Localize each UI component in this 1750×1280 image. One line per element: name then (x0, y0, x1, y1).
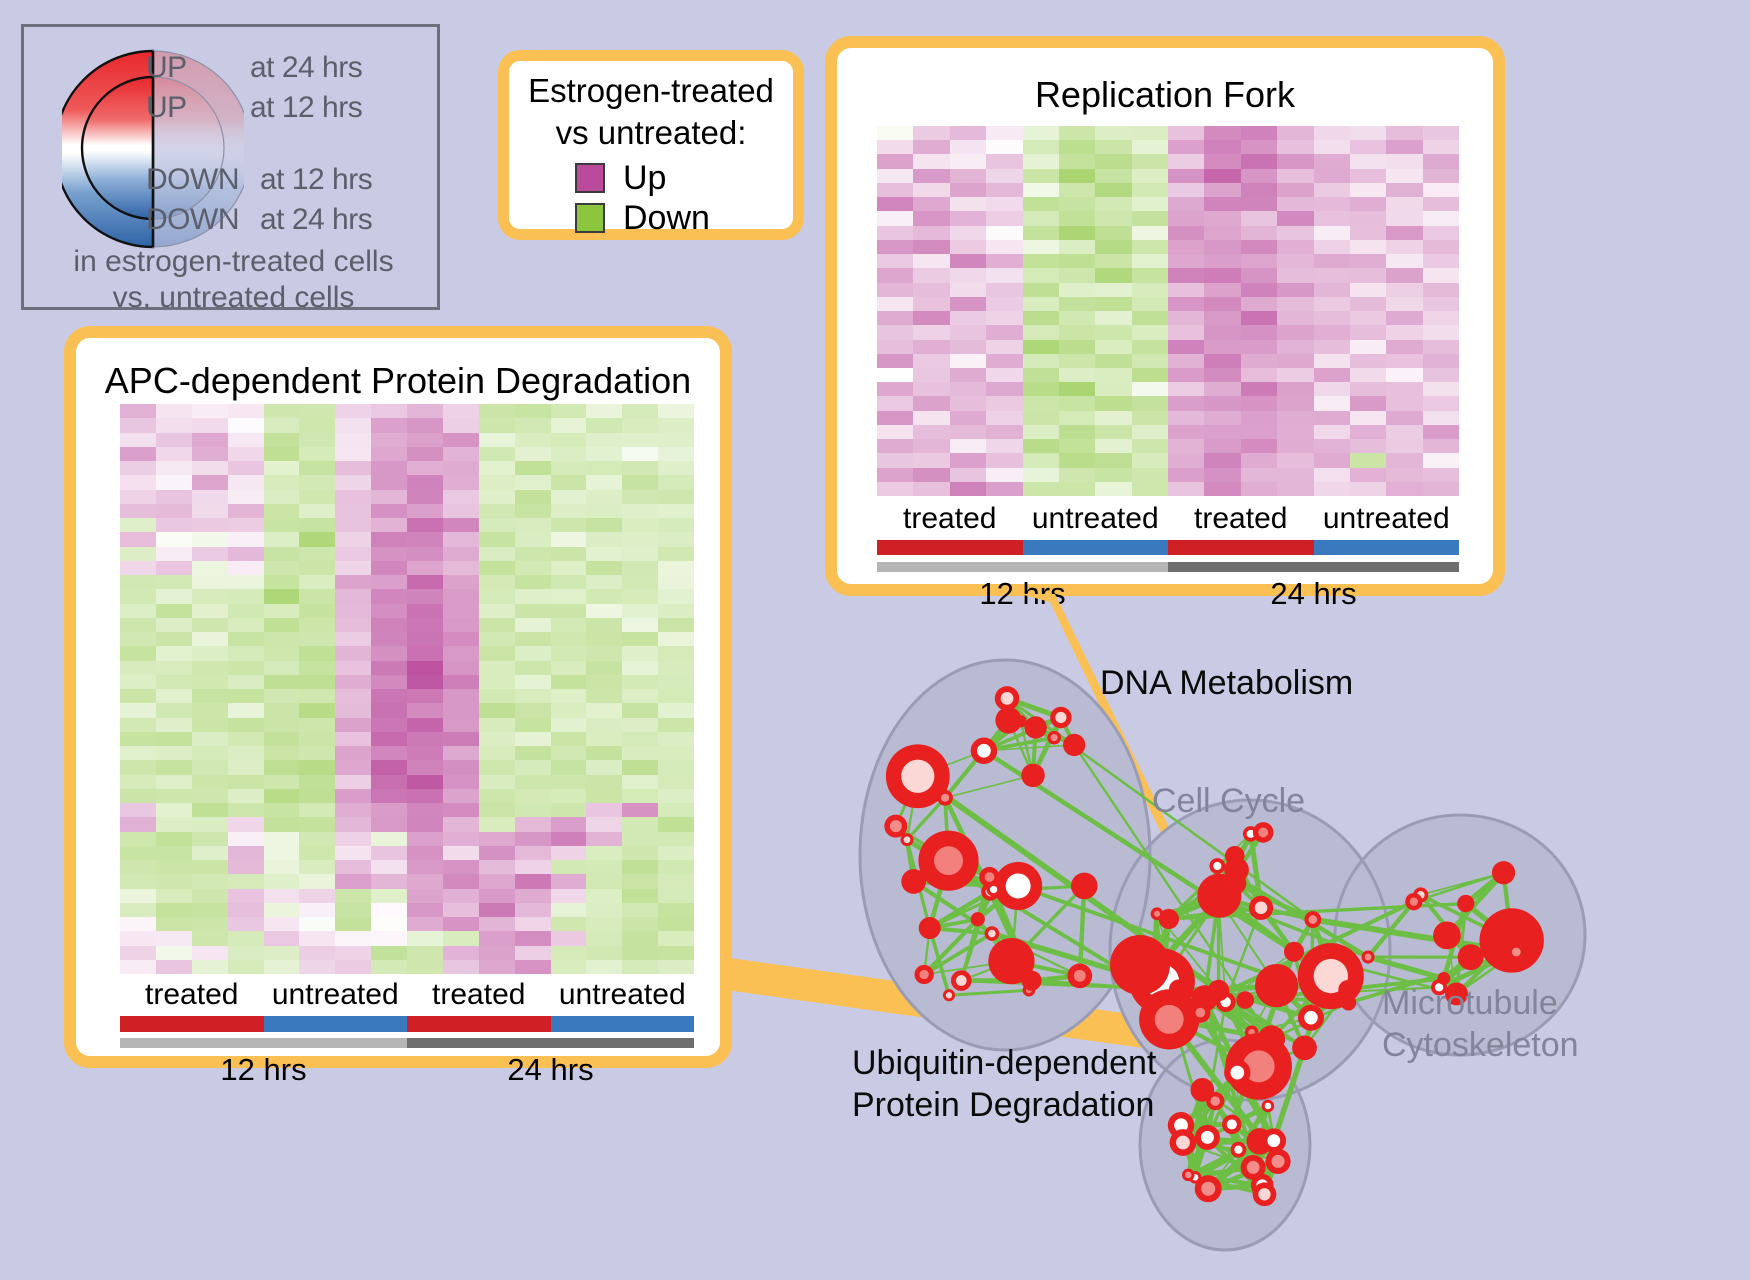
heatmap-cell (335, 461, 371, 475)
heatmap-cell (551, 661, 587, 675)
heatmap-cell (371, 604, 407, 618)
heatmap-cell (1314, 254, 1350, 268)
heatmap-cell (622, 404, 658, 418)
heatmap-cell (1132, 126, 1168, 140)
heatmap-cell (443, 475, 479, 489)
heatmap-cell (479, 703, 515, 717)
heatmap-apc (120, 404, 694, 974)
network-node (1050, 707, 1071, 728)
network-node (1292, 1036, 1317, 1061)
heatmap-cell (120, 518, 156, 532)
heatmap-cell (1386, 325, 1422, 339)
heatmap-cell (299, 675, 335, 689)
heatmap-cell (1095, 411, 1131, 425)
heatmap-cell (950, 197, 986, 211)
heatmap-cell (407, 960, 443, 974)
heatmap-cell (299, 632, 335, 646)
heatmap-cell (622, 817, 658, 831)
heatmap-cell (515, 689, 551, 703)
heatmap-cell (1314, 453, 1350, 467)
heatmap-cell (443, 604, 479, 618)
heatmap-cell (299, 618, 335, 632)
heatmap-cell (877, 382, 913, 396)
key-title-line1: Estrogen-treated (509, 71, 793, 111)
heatmap-cell (443, 789, 479, 803)
wheel-label-up-24: UP (146, 51, 187, 85)
heatmap-cell (622, 532, 658, 546)
heatmap-cell (551, 418, 587, 432)
heatmap-cell (407, 903, 443, 917)
heatmap-cell (658, 960, 694, 974)
heatmap-cell (622, 832, 658, 846)
heatmap-cell (407, 504, 443, 518)
heatmap-cell (1350, 425, 1386, 439)
heatmap-cell (1132, 226, 1168, 240)
heatmap-cell (586, 889, 622, 903)
heatmap-cell (299, 803, 335, 817)
heatmap-cell (299, 518, 335, 532)
heatmap-row (877, 396, 1459, 410)
heatmap-cell (1204, 169, 1240, 183)
heatmap-cell (913, 254, 949, 268)
network-node (1222, 1115, 1241, 1134)
heatmap-cell (479, 803, 515, 817)
heatmap-cell (1423, 226, 1459, 240)
heatmap-cell (120, 490, 156, 504)
heatmap-cell (264, 703, 300, 717)
heatmap-cell (443, 433, 479, 447)
heatmap-cell (156, 404, 192, 418)
heatmap-cell (1095, 425, 1131, 439)
network-node (1209, 858, 1225, 874)
heatmap-cell (120, 903, 156, 917)
heatmap-cell (264, 675, 300, 689)
heatmap-cell (950, 169, 986, 183)
heatmap-cell (156, 661, 192, 675)
network-node (1284, 942, 1304, 962)
cluster-label-dna-metabolism: DNA Metabolism (1100, 662, 1353, 704)
network-node (1249, 896, 1273, 920)
heatmap-cell (443, 646, 479, 660)
heatmap-cell (622, 874, 658, 888)
heatmap-cell (551, 532, 587, 546)
heatmap-cell (950, 382, 986, 396)
heatmap-row (120, 447, 694, 461)
heatmap-cell (443, 575, 479, 589)
heatmap-cell (479, 789, 515, 803)
heatmap-cell (1314, 226, 1350, 240)
heatmap-cell (228, 703, 264, 717)
heatmap-cell (515, 817, 551, 831)
heatmap-cell (264, 931, 300, 945)
network-node (1231, 1142, 1247, 1158)
heatmap-cell (264, 689, 300, 703)
heatmap-cell (264, 917, 300, 931)
heatmap-cell (1095, 482, 1131, 496)
heatmap-cell (192, 461, 228, 475)
heatmap-cell (1350, 453, 1386, 467)
heatmap-cell (551, 775, 587, 789)
heatmap-cell (515, 889, 551, 903)
heatmap-cell (950, 311, 986, 325)
heatmap-cell (950, 268, 986, 282)
heatmap-cell (264, 889, 300, 903)
heatmap-cell (1204, 411, 1240, 425)
heatmap-cell (1204, 140, 1240, 154)
heatmap-cell (1059, 439, 1095, 453)
heatmap-cell (1314, 325, 1350, 339)
network-node (1021, 764, 1045, 788)
heatmap-cell (407, 946, 443, 960)
heatmap-cell (1023, 240, 1059, 254)
heatmap-cell (299, 490, 335, 504)
heatmap-cell (1423, 368, 1459, 382)
heatmap-cell (1095, 140, 1131, 154)
heatmap-row (120, 575, 694, 589)
heatmap-cell (120, 661, 156, 675)
heatmap-cell (371, 589, 407, 603)
heatmap-cell (120, 817, 156, 831)
heatmap-cell (1241, 254, 1277, 268)
heatmap-cell (1386, 468, 1422, 482)
heatmap-cell (407, 461, 443, 475)
heatmap-cell (515, 604, 551, 618)
heatmap-cell (1132, 211, 1168, 225)
heatmap-cell (1314, 354, 1350, 368)
time-bar-segment (877, 562, 1168, 572)
heatmap-cell (586, 661, 622, 675)
heatmap-cell (156, 789, 192, 803)
heatmap-cell (986, 453, 1022, 467)
network-node (1262, 1100, 1275, 1113)
network-node (1433, 922, 1461, 950)
heatmap-cell (1386, 340, 1422, 354)
heatmap-row (120, 846, 694, 860)
network-node (937, 790, 953, 806)
heatmap-cell (1059, 368, 1095, 382)
heatmap-cell (479, 746, 515, 760)
heatmap-cell (156, 960, 192, 974)
heatmap-cell (622, 632, 658, 646)
heatmap-cell (1059, 268, 1095, 282)
heatmap-row (877, 482, 1459, 496)
heatmap-cell (1350, 382, 1386, 396)
heatmap-cell (586, 803, 622, 817)
heatmap-cell (192, 504, 228, 518)
heatmap-cell (877, 468, 913, 482)
heatmap-cell (1423, 126, 1459, 140)
heatmap-cell (1314, 311, 1350, 325)
heatmap-cell (335, 404, 371, 418)
network-node (1207, 887, 1230, 910)
heatmap-cell (1241, 340, 1277, 354)
wheel-time-up-24: at 24 hrs (250, 51, 362, 85)
heatmap-cell (622, 661, 658, 675)
heatmap-cell (335, 960, 371, 974)
heatmap-cell (586, 703, 622, 717)
heatmap-cell (299, 661, 335, 675)
heatmap-row (120, 518, 694, 532)
heatmap-cell (658, 433, 694, 447)
heatmap-cell (877, 311, 913, 325)
heatmap-cell (1204, 211, 1240, 225)
heatmap-cell (658, 504, 694, 518)
heatmap-cell (586, 604, 622, 618)
key-row-down: Down (575, 201, 710, 235)
heatmap-cell (877, 154, 913, 168)
heatmap-cell (658, 817, 694, 831)
heatmap-cell (1423, 254, 1459, 268)
heatmap-cell (1350, 439, 1386, 453)
heatmap-cell (335, 661, 371, 675)
heatmap-cell (371, 889, 407, 903)
heatmap-cell (1314, 197, 1350, 211)
heatmap-cell (1168, 453, 1204, 467)
heatmap-cell (1095, 283, 1131, 297)
heatmap-cell (986, 169, 1022, 183)
heatmap-cell (228, 874, 264, 888)
heatmap-cell (335, 718, 371, 732)
heatmap-cell (877, 411, 913, 425)
heatmap-cell (586, 618, 622, 632)
heatmap-row (120, 889, 694, 903)
heatmap-cell (264, 846, 300, 860)
heatmap-cell (407, 532, 443, 546)
heatmap-cell (913, 453, 949, 467)
heatmap-cell (120, 931, 156, 945)
network-node (914, 965, 933, 984)
updown-key-box: Estrogen-treated vs untreated: Up Down (498, 50, 804, 240)
heatmap-cell (1132, 268, 1168, 282)
heatmap-cell (192, 675, 228, 689)
heatmap-cell (192, 547, 228, 561)
heatmap-cell (156, 604, 192, 618)
heatmap-cell (1132, 297, 1168, 311)
heatmap-row (877, 197, 1459, 211)
heatmap-cell (515, 447, 551, 461)
heatmap-cell (1168, 382, 1204, 396)
heatmap-cell (299, 532, 335, 546)
heatmap-cell (1314, 411, 1350, 425)
heatmap-cell (1241, 325, 1277, 339)
heatmap-cell (1059, 197, 1095, 211)
heatmap-cell (986, 154, 1022, 168)
heatmap-cell (1168, 268, 1204, 282)
heatmap-cell (1132, 240, 1168, 254)
heatmap-cell (1168, 439, 1204, 453)
heatmap-cell (1204, 226, 1240, 240)
heatmap-cell (299, 789, 335, 803)
heatmap-cell (622, 803, 658, 817)
heatmap-cell (551, 903, 587, 917)
heatmap-cell (228, 447, 264, 461)
heatmap-cell (986, 268, 1022, 282)
network-node (1110, 935, 1170, 995)
heatmap-cell (120, 589, 156, 603)
heatmap-cell (264, 433, 300, 447)
heatmap-cell (1350, 126, 1386, 140)
key-label-down: Down (623, 201, 710, 235)
heatmap-cell (1204, 183, 1240, 197)
heatmap-cell (1241, 283, 1277, 297)
heatmap-cell (1023, 411, 1059, 425)
heatmap-cell (986, 311, 1022, 325)
heatmap-row (120, 746, 694, 760)
heatmap-cell (1095, 169, 1131, 183)
heatmap-cell (1023, 197, 1059, 211)
network-node (1195, 1125, 1220, 1150)
heatmap-cell (479, 760, 515, 774)
network-node (1362, 951, 1375, 964)
heatmap-cell (371, 661, 407, 675)
heatmap-row (877, 226, 1459, 240)
heatmap-cell (264, 490, 300, 504)
heatmap-cell (986, 226, 1022, 240)
heatmap-cell (335, 789, 371, 803)
heatmap-cell (192, 532, 228, 546)
heatmap-cell (986, 325, 1022, 339)
heatmap-cell (877, 482, 913, 496)
heatmap-row (120, 561, 694, 575)
figure-canvas: UP at 24 hrs UP at 12 hrs DOWN at 12 hrs… (0, 0, 1750, 1279)
heatmap-cell (913, 340, 949, 354)
heatmap-cell (1059, 468, 1095, 482)
heatmap-cell (228, 646, 264, 660)
heatmap-cell (515, 732, 551, 746)
heatmap-cell (622, 547, 658, 561)
heatmap-cell (335, 689, 371, 703)
heatmap-cell (479, 860, 515, 874)
heatmap-cell (658, 903, 694, 917)
heatmap-cell (156, 860, 192, 874)
heatmap-cell (586, 646, 622, 660)
heatmap-cell (877, 297, 913, 311)
heatmap-cell (1023, 154, 1059, 168)
heatmap-row (877, 368, 1459, 382)
heatmap-cell (1132, 453, 1168, 467)
heatmap-cell (299, 689, 335, 703)
heatmap-cell (264, 461, 300, 475)
heatmap-cell (1277, 297, 1313, 311)
heatmap-cell (1241, 183, 1277, 197)
heatmap-cell (192, 404, 228, 418)
heatmap-cell (1204, 382, 1240, 396)
heatmap-cell (264, 418, 300, 432)
heatmap-cell (622, 960, 658, 974)
network-node (1190, 1078, 1214, 1102)
heatmap-cell (622, 903, 658, 917)
heatmap-cell (586, 775, 622, 789)
heatmap-cell (1241, 411, 1277, 425)
heatmap-cell (658, 532, 694, 546)
heatmap-row (120, 675, 694, 689)
heatmap-cell (913, 311, 949, 325)
heatmap-cell (479, 689, 515, 703)
heatmap-cell (335, 917, 371, 931)
heatmap-cell (1314, 240, 1350, 254)
heatmap-cell (335, 860, 371, 874)
heatmap-row (877, 183, 1459, 197)
heatmap-cell (228, 532, 264, 546)
heatmap-cell (658, 404, 694, 418)
heatmap-cell (264, 775, 300, 789)
heatmap-cell (228, 504, 264, 518)
heatmap-cell (407, 490, 443, 504)
heatmap-cell (515, 860, 551, 874)
heatmap-cell (551, 490, 587, 504)
heatmap-cell (335, 518, 371, 532)
heatmap-cell (479, 433, 515, 447)
heatmap-cell (192, 475, 228, 489)
heatmap-cell (658, 874, 694, 888)
heatmap-row (120, 760, 694, 774)
heatmap-cell (551, 504, 587, 518)
heatmap-cell (551, 889, 587, 903)
network-node (919, 917, 941, 939)
heatmap-cell (1168, 154, 1204, 168)
heatmap-cell (515, 846, 551, 860)
heatmap-cell (156, 575, 192, 589)
heatmap-cell (1132, 340, 1168, 354)
heatmap-cell (443, 561, 479, 575)
heatmap-cell (228, 746, 264, 760)
heatmap-row (120, 661, 694, 675)
heatmap-cell (622, 646, 658, 660)
heatmap-cell (1241, 169, 1277, 183)
heatmap-cell (479, 960, 515, 974)
heatmap-cell (622, 433, 658, 447)
time-bar-replication-fork (877, 562, 1459, 572)
heatmap-cell (913, 240, 949, 254)
heatmap-cell (1386, 140, 1422, 154)
heatmap-cell (407, 846, 443, 860)
heatmap-cell (1168, 140, 1204, 154)
heatmap-cell (658, 561, 694, 575)
heatmap-row (120, 703, 694, 717)
heatmap-cell (1168, 425, 1204, 439)
heatmap-cell (622, 917, 658, 931)
wheel-time-down-12: at 12 hrs (260, 163, 372, 197)
heatmap-cell (1386, 311, 1422, 325)
heatmap-cell (1059, 354, 1095, 368)
heatmap-cell (299, 903, 335, 917)
heatmap-cell (877, 169, 913, 183)
network-node (985, 926, 1000, 941)
heatmap-cell (658, 661, 694, 675)
heatmap-cell (950, 126, 986, 140)
heatmap-cell (228, 960, 264, 974)
heatmap-cell (551, 589, 587, 603)
heatmap-cell (479, 461, 515, 475)
heatmap-row (120, 618, 694, 632)
group-label: treated (1168, 502, 1314, 536)
heatmap-cell (1023, 439, 1059, 453)
heatmap-cell (299, 447, 335, 461)
heatmap-cell (877, 254, 913, 268)
heatmap-cell (515, 946, 551, 960)
heatmap-cell (120, 746, 156, 760)
heatmap-cell (228, 931, 264, 945)
heatmap-cell (407, 732, 443, 746)
heatmap-cell (950, 439, 986, 453)
heatmap-row (120, 589, 694, 603)
network-node (1190, 1002, 1210, 1022)
heatmap-cell (335, 589, 371, 603)
heatmap-cell (622, 461, 658, 475)
heatmap-cell (913, 126, 949, 140)
heatmap-cell (299, 475, 335, 489)
heatmap-cell (1350, 311, 1386, 325)
